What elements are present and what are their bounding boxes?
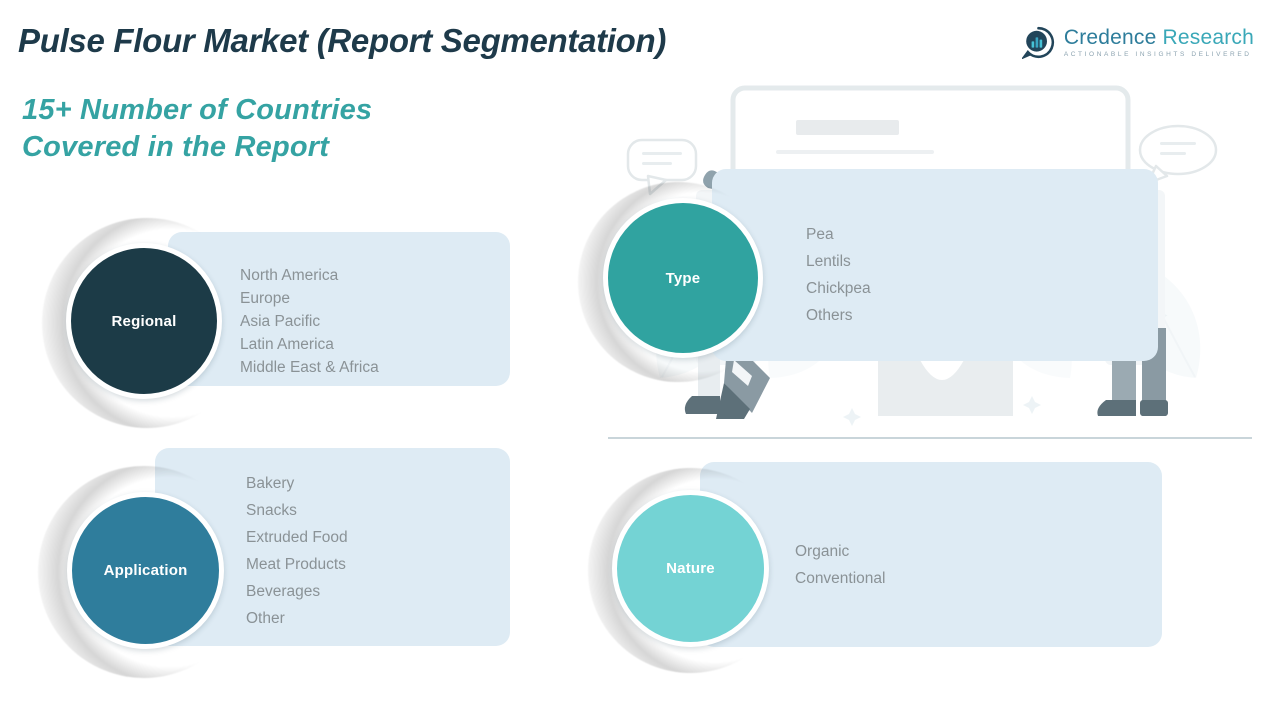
logo-name: Credence Research: [1064, 27, 1254, 48]
nature-label: Nature: [666, 560, 715, 577]
list-item: Pea: [806, 221, 871, 248]
type-circle[interactable]: Type: [603, 198, 763, 358]
application-label: Application: [104, 562, 188, 579]
list-item: Other: [246, 605, 348, 632]
list-item: North America: [240, 264, 379, 287]
logo-wordmark: Credence Research Actionable Insights De…: [1064, 27, 1254, 59]
list-item: Europe: [240, 287, 379, 310]
list-item: Chickpea: [806, 275, 871, 302]
list-item: Snacks: [246, 497, 348, 524]
list-item: Latin America: [240, 333, 379, 356]
nature-item-list: Organic Conventional: [795, 538, 885, 592]
list-item: Lentils: [806, 248, 871, 275]
nature-circle[interactable]: Nature: [612, 490, 769, 647]
logo-name-part2: Research: [1156, 26, 1254, 49]
page-subtitle: 15+ Number of Countries Covered in the R…: [22, 92, 372, 166]
type-item-list: Pea Lentils Chickpea Others: [806, 221, 871, 329]
application-item-list: Bakery Snacks Extruded Food Meat Product…: [246, 470, 348, 632]
slide-canvas: Pulse Flour Market (Report Segmentation)…: [0, 0, 1280, 720]
list-item: Meat Products: [246, 551, 348, 578]
list-item: Bakery: [246, 470, 348, 497]
logo-tagline: Actionable Insights Delivered: [1064, 52, 1254, 59]
subtitle-line-1: 15+ Number of Countries: [22, 92, 372, 129]
list-item: Conventional: [795, 565, 885, 592]
regional-item-list: North America Europe Asia Pacific Latin …: [240, 264, 379, 379]
type-label: Type: [666, 270, 701, 287]
bar-chart-circle-icon: [1022, 26, 1055, 59]
logo-name-part1: Credence: [1064, 26, 1157, 49]
list-item: Middle East & Africa: [240, 356, 379, 379]
list-item: Asia Pacific: [240, 310, 379, 333]
regional-label: Regional: [112, 313, 177, 330]
list-item: Extruded Food: [246, 524, 348, 551]
brand-logo[interactable]: Credence Research Actionable Insights De…: [1022, 26, 1254, 59]
pedestal: [878, 360, 1013, 416]
list-item: Organic: [795, 538, 885, 565]
list-item: Beverages: [246, 578, 348, 605]
regional-circle[interactable]: Regional: [66, 243, 222, 399]
application-circle[interactable]: Application: [67, 492, 224, 649]
type-panel: [712, 169, 1158, 361]
list-item: Others: [806, 302, 871, 329]
subtitle-line-2: Covered in the Report: [22, 129, 372, 166]
page-title: Pulse Flour Market (Report Segmentation): [18, 22, 666, 60]
